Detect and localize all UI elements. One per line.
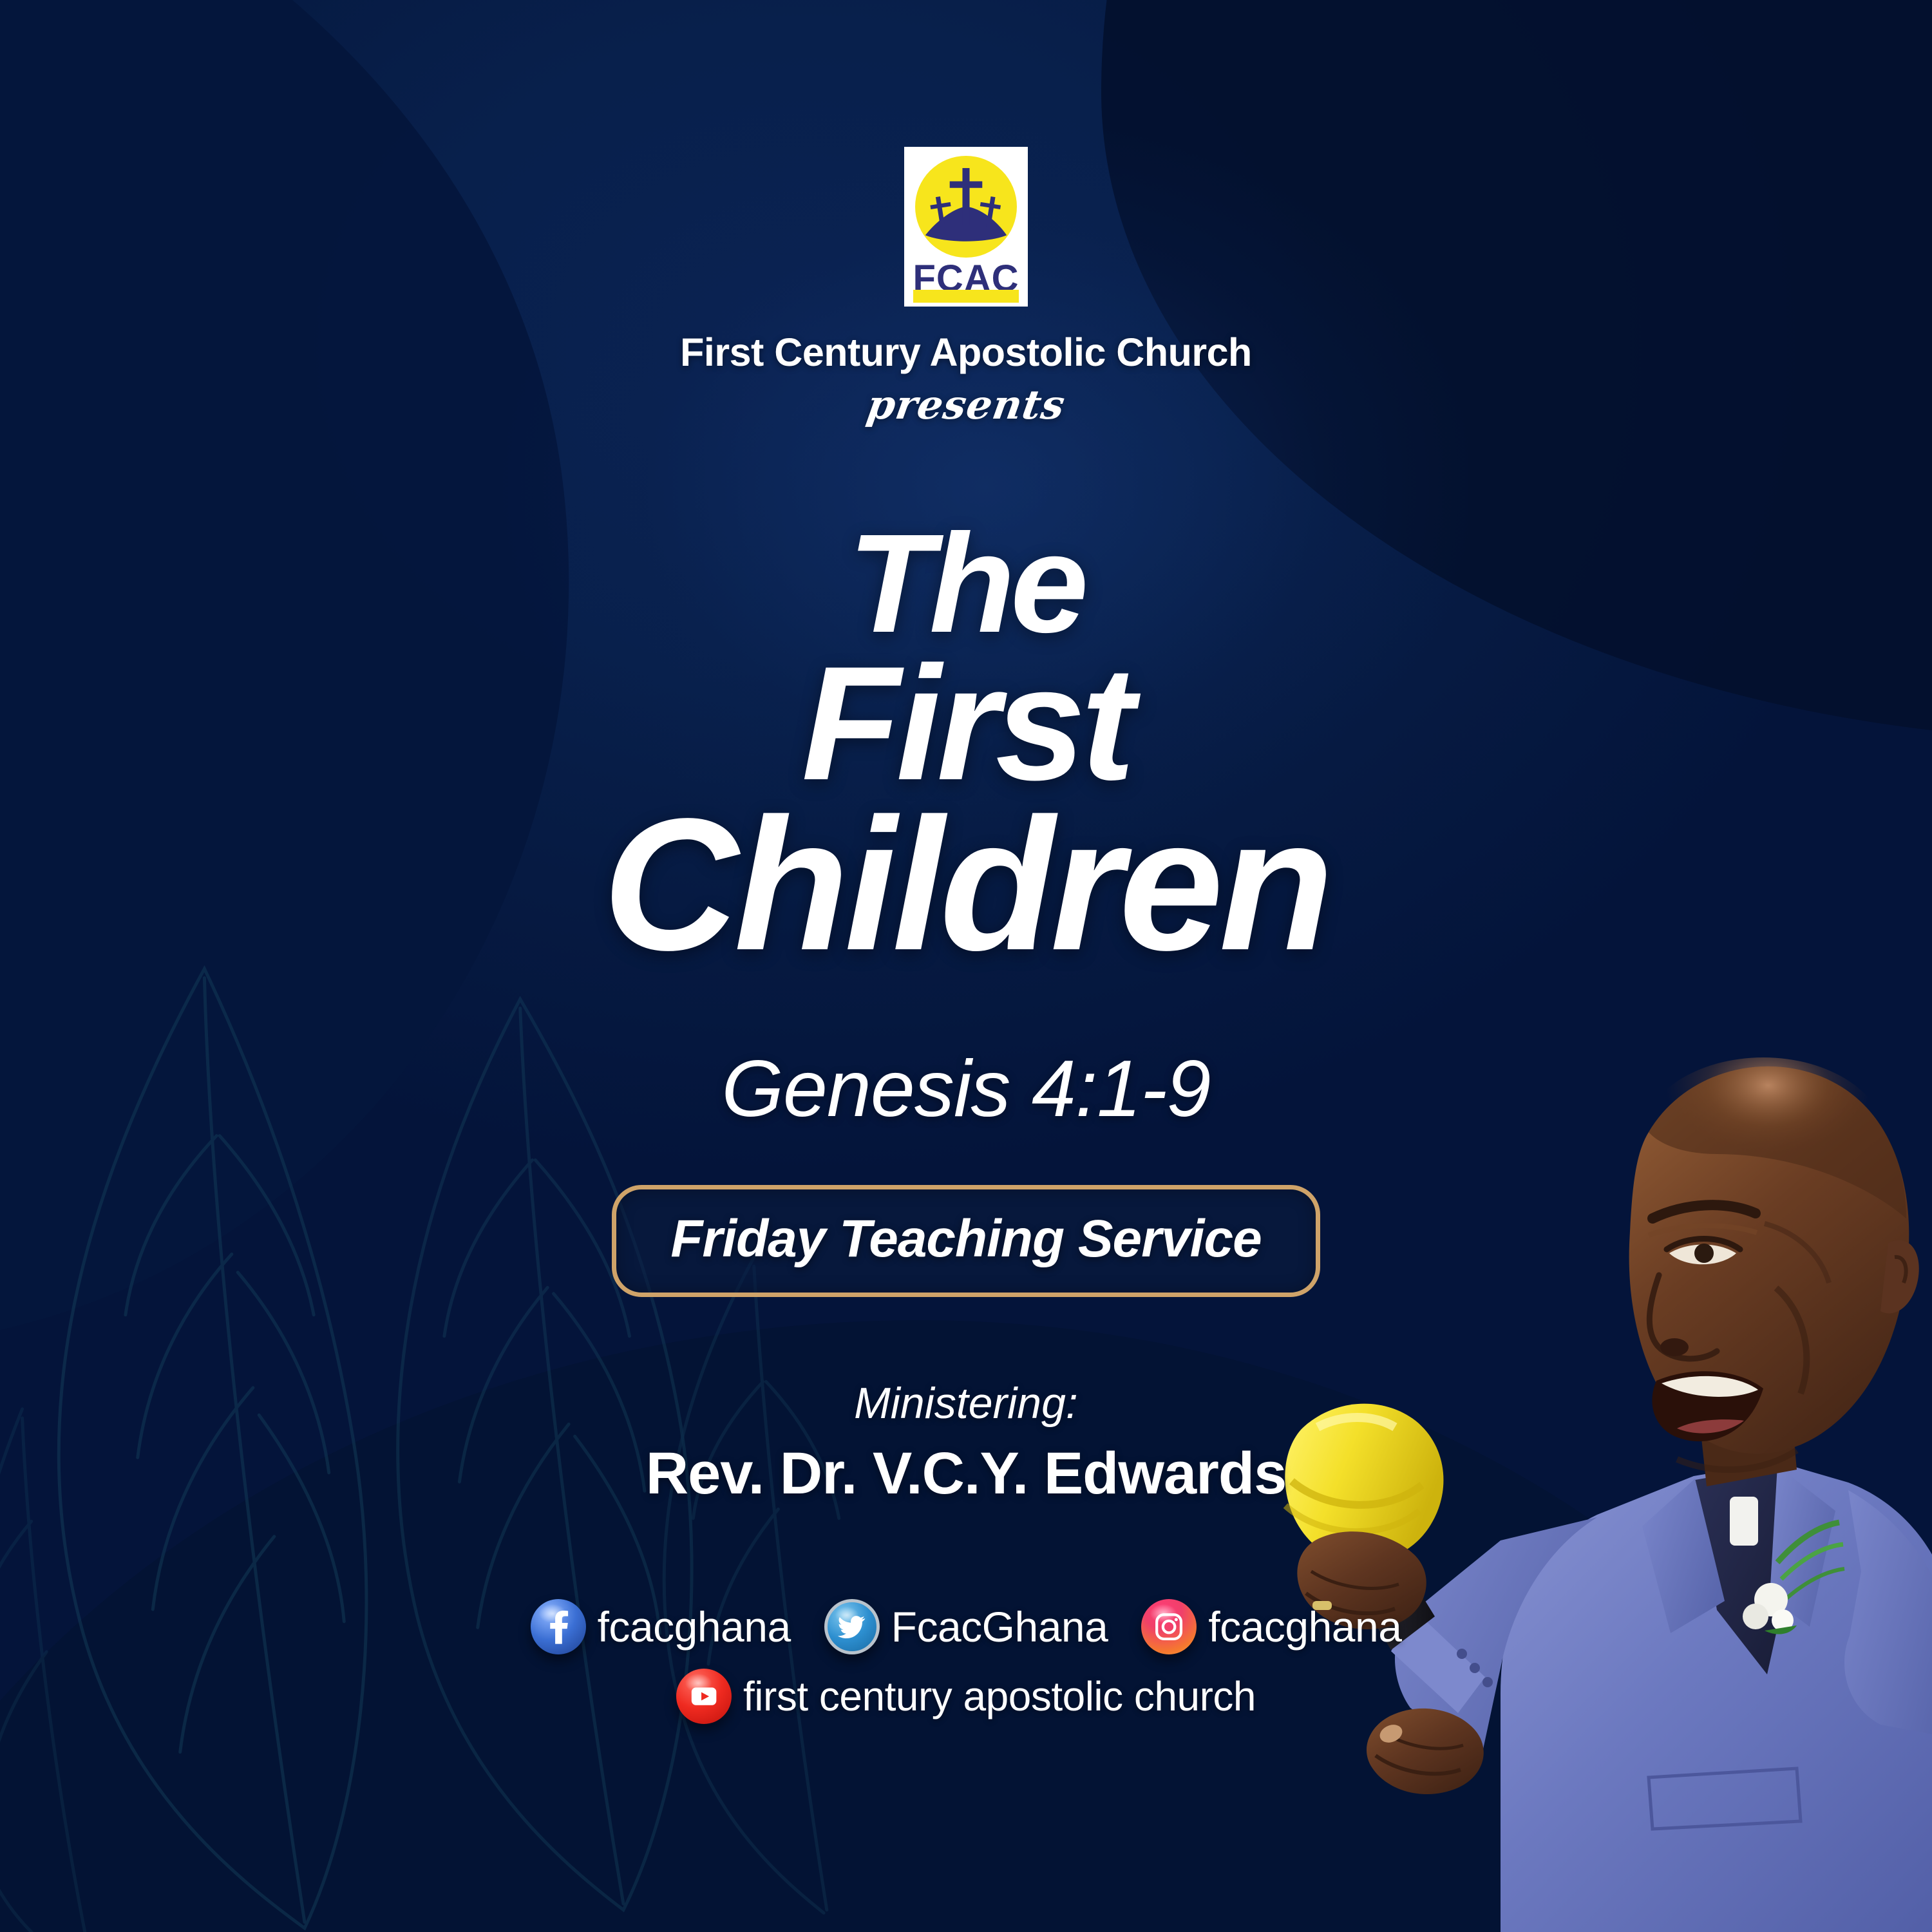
title-line-1: The — [848, 520, 1084, 649]
social-item-instagram[interactable]: fcacghana — [1141, 1599, 1401, 1654]
presents-word: presents — [864, 381, 1068, 428]
title-line-3: Children — [603, 798, 1329, 971]
youtube-play-icon[interactable] — [676, 1669, 732, 1724]
social-item-twitter[interactable]: FcacGhana — [824, 1599, 1108, 1654]
flyer-content: FCAC First Century Apostolic Church pres… — [0, 0, 1932, 1932]
twitter-bird-icon[interactable] — [824, 1599, 880, 1654]
minister-name: Rev. Dr. V.C.Y. Edwards — [646, 1440, 1287, 1508]
ministering-label: Ministering: — [854, 1378, 1078, 1428]
service-badge-label: Friday Teaching Service — [670, 1209, 1261, 1269]
scripture-reference: Genesis 4:1-9 — [722, 1043, 1211, 1135]
twitter-handle[interactable]: FcacGhana — [891, 1602, 1108, 1651]
three-crosses-on-hill-icon — [915, 156, 1017, 258]
sermon-title: The First Children — [603, 520, 1329, 971]
social-row-primary: fcacghana FcacGhana — [531, 1599, 1402, 1654]
facebook-handle[interactable]: fcacghana — [598, 1602, 791, 1651]
fcac-logo: FCAC — [904, 147, 1028, 307]
minister-block: Ministering: Rev. Dr. V.C.Y. Edwards — [646, 1378, 1287, 1508]
social-item-youtube[interactable]: first century apostolic church — [676, 1669, 1256, 1724]
church-name: First Century Apostolic Church — [680, 330, 1252, 375]
service-badge: Friday Teaching Service — [612, 1185, 1320, 1297]
social-links: fcacghana FcacGhana — [531, 1599, 1402, 1724]
social-row-youtube: first century apostolic church — [676, 1669, 1256, 1724]
instagram-handle[interactable]: fcacghana — [1208, 1602, 1401, 1651]
youtube-handle[interactable]: first century apostolic church — [743, 1672, 1256, 1720]
logo-yellow-bar — [913, 290, 1019, 303]
facebook-icon[interactable] — [531, 1599, 586, 1654]
social-item-facebook[interactable]: fcacghana — [531, 1599, 791, 1654]
flyer-canvas: FCAC First Century Apostolic Church pres… — [0, 0, 1932, 1932]
title-line-2: First — [801, 649, 1130, 799]
instagram-camera-icon[interactable] — [1141, 1599, 1197, 1654]
